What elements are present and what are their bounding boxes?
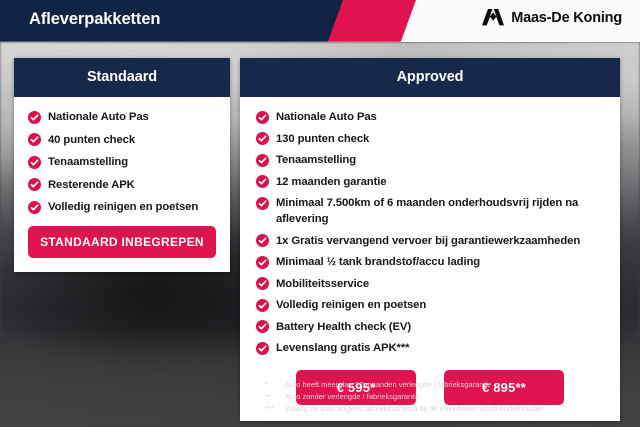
feature-label: 1x Gratis vervangend vervoer bij garanti… <box>276 233 580 249</box>
list-item: 130 punten check <box>256 131 604 147</box>
list-item: Levenslang gratis APK*** <box>256 340 604 356</box>
footnote-triple-asterisk: *** Zolang de auto volgens fabrieksschem… <box>265 403 625 415</box>
promo-graphic: Afleverpakketten Maas-De Koning Standaar… <box>0 0 640 427</box>
card-approved-body: Nationale Auto Pas 130 punten check Tena… <box>240 97 620 421</box>
feature-label: Tenaamstelling <box>276 152 356 168</box>
list-item: 12 maanden garantie <box>256 174 604 190</box>
check-circle-icon <box>256 234 269 247</box>
footnote-text: Auto zonder verlengde / fabrieksgarantie <box>285 391 625 403</box>
footnote-double-asterisk: ** Auto zonder verlengde / fabrieksgaran… <box>265 391 625 403</box>
check-circle-icon <box>256 175 269 188</box>
footnote-block: * Auto heeft meer dan 12 maanden verleng… <box>265 379 625 416</box>
feature-label: Minimaal ½ tank brandstof/accu lading <box>276 254 480 270</box>
card-approved-heading: Approved <box>240 58 620 97</box>
feature-label: Tenaamstelling <box>48 154 128 170</box>
header-underline <box>0 41 640 42</box>
check-circle-icon <box>256 320 269 333</box>
check-circle-icon <box>256 154 269 167</box>
check-circle-icon <box>256 299 269 312</box>
card-approved-feature-list: Nationale Auto Pas 130 punten check Tena… <box>256 109 604 356</box>
card-approved: Approved Nationale Auto Pas 130 punten c… <box>240 58 620 421</box>
footnote-marker: * <box>265 379 279 391</box>
card-standaard-body: Nationale Auto Pas 40 punten check Tenaa… <box>14 97 230 272</box>
list-item: Nationale Auto Pas <box>256 109 604 125</box>
check-circle-icon <box>28 111 41 124</box>
card-standaard: Standaard Nationale Auto Pas 40 punten c… <box>14 58 230 272</box>
footnote-single-asterisk: * Auto heeft meer dan 12 maanden verleng… <box>265 379 625 391</box>
maas-de-koning-m-logo-icon <box>482 9 504 26</box>
list-item: Resterende APK <box>28 177 216 193</box>
brand-lockup: Maas-De Koning <box>482 9 622 26</box>
feature-label: 40 punten check <box>48 132 135 148</box>
check-circle-icon <box>28 156 41 169</box>
feature-label: Nationale Auto Pas <box>276 109 377 125</box>
check-circle-icon <box>256 256 269 269</box>
card-standaard-heading: Standaard <box>14 58 230 97</box>
check-circle-icon <box>256 277 269 290</box>
footnote-marker: *** <box>265 403 279 415</box>
feature-label: Volledig reinigen en poetsen <box>276 297 426 313</box>
check-circle-icon <box>256 342 269 355</box>
feature-label: 130 punten check <box>276 131 369 147</box>
header-bar: Afleverpakketten Maas-De Koning <box>0 0 640 42</box>
footnote-text: Auto heeft meer dan 12 maanden verlengde… <box>285 379 625 391</box>
list-item: Volledig reinigen en poetsen <box>256 297 604 313</box>
check-circle-icon <box>256 197 269 210</box>
list-item: Minimaal 7.500km of 6 maanden onderhouds… <box>256 195 604 227</box>
list-item: Tenaamstelling <box>28 154 216 170</box>
feature-label: Battery Health check (EV) <box>276 319 411 335</box>
check-circle-icon <box>256 132 269 145</box>
standaard-inbegrepen-button[interactable]: STANDAARD INBEGREPEN <box>28 226 216 258</box>
list-item: Volledig reinigen en poetsen <box>28 199 216 215</box>
check-circle-icon <box>28 201 41 214</box>
list-item: Mobiliteitsservice <box>256 276 604 292</box>
feature-label: 12 maanden garantie <box>276 174 386 190</box>
list-item: Nationale Auto Pas <box>28 109 216 125</box>
footnote-text: Zolang de auto volgens fabrieksschema bi… <box>285 403 625 415</box>
list-item: Battery Health check (EV) <box>256 319 604 335</box>
card-standaard-feature-list: Nationale Auto Pas 40 punten check Tenaa… <box>28 109 216 215</box>
feature-label: Levenslang gratis APK*** <box>276 340 409 356</box>
page-title: Afleverpakketten <box>29 10 160 29</box>
check-circle-icon <box>28 178 41 191</box>
check-circle-icon <box>28 133 41 146</box>
brand-name: Maas-De Koning <box>511 10 622 26</box>
footnote-marker: ** <box>265 391 279 403</box>
feature-label: Nationale Auto Pas <box>48 109 149 125</box>
list-item: Minimaal ½ tank brandstof/accu lading <box>256 254 604 270</box>
feature-label: Minimaal 7.500km of 6 maanden onderhouds… <box>276 195 604 227</box>
feature-label: Volledig reinigen en poetsen <box>48 199 198 215</box>
check-circle-icon <box>256 111 269 124</box>
list-item: 40 punten check <box>28 132 216 148</box>
list-item: 1x Gratis vervangend vervoer bij garanti… <box>256 233 604 249</box>
list-item: Tenaamstelling <box>256 152 604 168</box>
feature-label: Mobiliteitsservice <box>276 276 369 292</box>
feature-label: Resterende APK <box>48 177 135 193</box>
